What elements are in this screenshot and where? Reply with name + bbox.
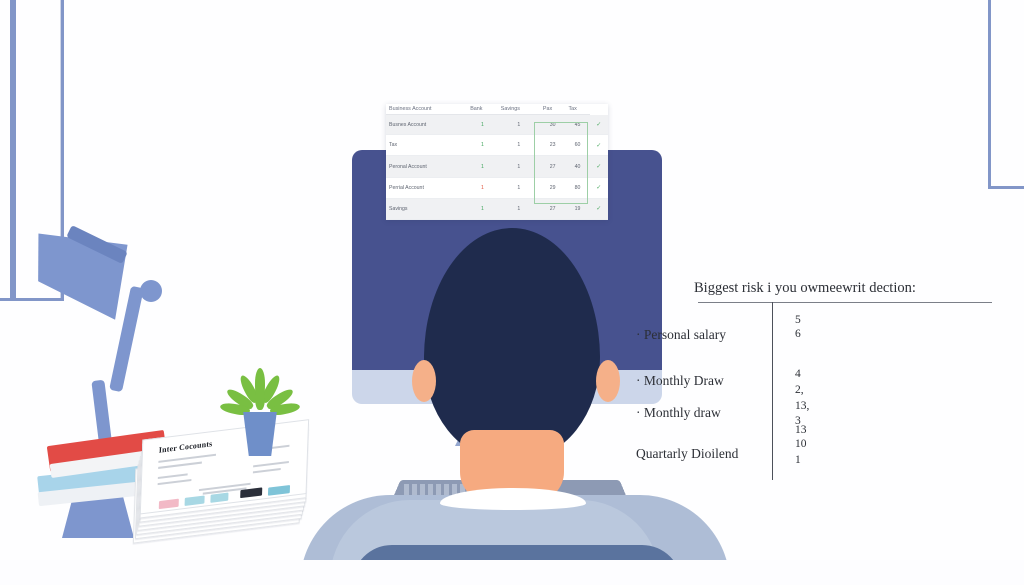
document-title: Inter Cocounts — [159, 439, 213, 455]
column-header-tax[interactable]: Tax — [565, 104, 589, 115]
person-ear-left — [412, 360, 436, 402]
cell-tax[interactable]: 45 — [565, 115, 589, 135]
cell-account[interactable]: Busnes Account — [386, 115, 467, 135]
note-number: 1 — [795, 454, 801, 466]
column-header-pax[interactable]: Pax — [540, 104, 566, 115]
notes-horizontal-rule — [698, 302, 992, 303]
table-body: Busnes Account113045✓Tax112360✓Peronal A… — [386, 115, 608, 220]
cell-bank[interactable]: 1 — [467, 198, 498, 219]
cell-pax[interactable]: 30 — [540, 115, 566, 135]
illustration-scene: Business Account Bank Savings Pax Tax Bu… — [0, 0, 1024, 585]
note-number: 2, — [795, 384, 804, 396]
cell-savings[interactable]: 1 — [498, 156, 540, 177]
doc-chip — [268, 485, 290, 496]
cell-tax[interactable]: 60 — [565, 135, 589, 156]
paper-stack: Inter Cocounts — [139, 419, 309, 541]
note-number: 10 — [795, 438, 807, 450]
notes-vertical-divider — [772, 302, 773, 480]
cell-savings[interactable]: 1 — [498, 135, 540, 156]
table-header-row: Business Account Bank Savings Pax Tax — [386, 104, 608, 115]
cell-check-icon[interactable]: ✓ — [590, 156, 608, 177]
accounts-table[interactable]: Business Account Bank Savings Pax Tax Bu… — [386, 104, 608, 220]
cell-check-icon[interactable]: ✓ — [590, 115, 608, 135]
cell-bank[interactable]: 1 — [467, 135, 498, 156]
doc-chip — [210, 493, 228, 503]
plant-leaves — [230, 368, 290, 418]
note-number: 6 — [795, 328, 801, 340]
cell-tax[interactable]: 80 — [565, 177, 589, 198]
cell-check-icon[interactable]: ✓ — [590, 198, 608, 219]
cell-savings[interactable]: 1 — [498, 198, 540, 219]
cell-bank[interactable]: 1 — [467, 115, 498, 135]
note-item: · Personal salary — [636, 327, 726, 343]
cell-bank[interactable]: 1 — [467, 156, 498, 177]
cell-check-icon[interactable]: ✓ — [590, 177, 608, 198]
table-row[interactable]: Perrial Account112980✓ — [386, 177, 608, 198]
cell-account[interactable]: Tax — [386, 135, 467, 156]
cell-check-icon[interactable]: ✓ — [590, 135, 608, 156]
doc-chip — [240, 487, 262, 498]
cell-account[interactable]: Savings — [386, 198, 467, 219]
cell-pax[interactable]: 27 — [540, 198, 566, 219]
doc-chip — [185, 495, 205, 506]
doc-chip — [159, 499, 179, 510]
table-row[interactable]: Tax112360✓ — [386, 135, 608, 156]
notes-title: Biggest risk i you owmeewrit dection: — [694, 280, 916, 297]
note-item: · Monthly Draw — [636, 373, 724, 389]
cell-account[interactable]: Peronal Account — [386, 156, 467, 177]
cell-savings[interactable]: 1 — [498, 177, 540, 198]
cell-tax[interactable]: 19 — [565, 198, 589, 219]
note-number: 5 — [795, 314, 801, 326]
cell-bank[interactable]: 1 — [467, 177, 498, 198]
desk-surface — [0, 560, 1024, 585]
cell-pax[interactable]: 29 — [540, 177, 566, 198]
cell-account[interactable]: Perrial Account — [386, 177, 467, 198]
note-item: · Monthly draw — [636, 405, 721, 421]
note-number: 4 — [795, 368, 801, 380]
column-header-bank[interactable]: Bank — [467, 104, 498, 115]
window-frame-right — [988, 0, 1024, 189]
column-header-savings[interactable]: Savings — [498, 104, 540, 115]
table-row[interactable]: Peronal Account112740✓ — [386, 156, 608, 177]
spreadsheet-panel[interactable]: Business Account Bank Savings Pax Tax Bu… — [386, 104, 608, 220]
notes-panel: Biggest risk i you owmeewrit dection: · … — [632, 272, 992, 487]
person-ear-right — [596, 360, 620, 402]
cell-pax[interactable]: 23 — [540, 135, 566, 156]
table-row[interactable]: Busnes Account113045✓ — [386, 115, 608, 135]
cell-tax[interactable]: 40 — [565, 156, 589, 177]
lamp-joint — [140, 280, 162, 302]
cell-savings[interactable]: 1 — [498, 115, 540, 135]
note-number: 13, — [795, 400, 809, 412]
cell-pax[interactable]: 27 — [540, 156, 566, 177]
note-item: Quartarly Dioilend — [636, 446, 738, 462]
column-header-account[interactable]: Business Account — [386, 104, 467, 115]
table-row[interactable]: Savings112719✓ — [386, 198, 608, 219]
note-number: 13 — [795, 424, 807, 436]
